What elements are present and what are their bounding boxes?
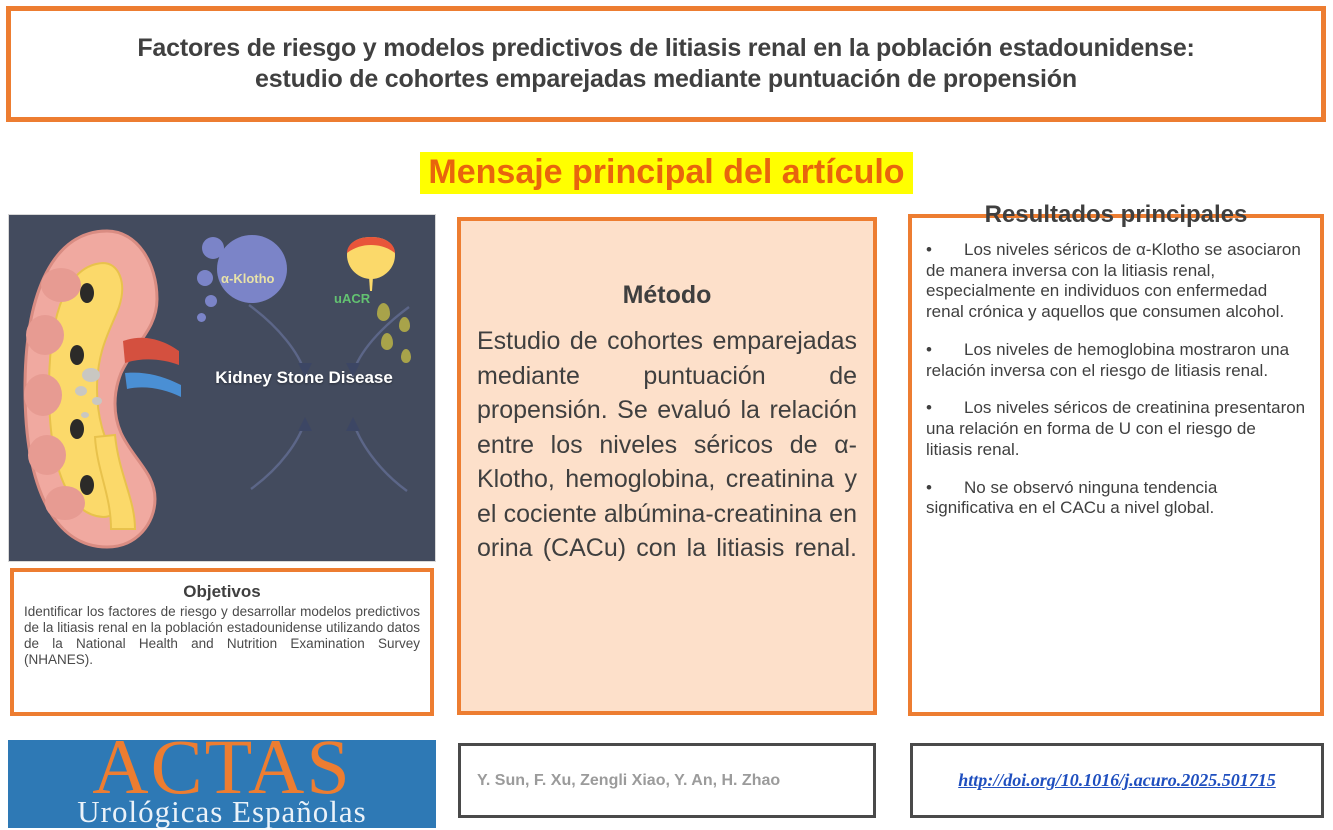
page-title-line-1: Factores de riesgo y modelos predictivos…	[137, 34, 1194, 62]
resultados-bullet-text: Los niveles de hemoglobina mostraron una…	[926, 340, 1289, 380]
page-title-line-2: estudio de cohortes emparejadas mediante…	[255, 65, 1077, 93]
figure-label-klotho: α-Klotho	[221, 271, 274, 286]
resultados-panel: •Los niveles séricos de α-Klotho se asoc…	[908, 214, 1324, 716]
resultados-bullet-item: •Los niveles séricos de α-Klotho se asoc…	[926, 240, 1306, 323]
klotho-bubble-icon	[202, 237, 224, 259]
metodo-panel: Método Estudio de cohortes emparejadas m…	[457, 217, 877, 715]
klotho-bubble-icon	[197, 270, 213, 286]
arrow-klotho-to-center-icon	[239, 301, 419, 381]
kidney-cross-section-icon	[15, 223, 190, 555]
arrow-hemoglobin-to-center-icon	[239, 413, 419, 493]
metodo-heading: Método	[477, 281, 857, 310]
actas-journal-logo: ACTAS Urológicas Españolas	[8, 740, 436, 828]
poster-title-box: Factores de riesgo y modelos predictivos…	[6, 6, 1326, 122]
logo-subtitle-text: Urológicas Españolas	[77, 796, 366, 827]
resultados-bullet-item: •Los niveles de hemoglobina mostraron un…	[926, 340, 1306, 381]
klotho-blob-icon	[217, 235, 287, 303]
resultados-bullet-item: •Los niveles séricos de creatinina prese…	[926, 398, 1306, 460]
resultados-bullet-item: •No se observó ninguna tendencia signifi…	[926, 478, 1306, 519]
objetivos-body: Identificar los factores de riesgo y des…	[24, 604, 420, 668]
doi-box: http://doi.org/10.1016/j.acuro.2025.5017…	[910, 743, 1324, 818]
metodo-body: Estudio de cohortes emparejadas mediante…	[477, 324, 857, 600]
bullet-glyph: •	[926, 340, 964, 361]
klotho-bubble-icon	[197, 313, 206, 322]
authors-list: Y. Sun, F. Xu, Zengli Xiao, Y. An, H. Zh…	[477, 772, 780, 790]
resultados-bullet-text: Los niveles séricos de creatinina presen…	[926, 398, 1305, 458]
bladder-icon	[339, 233, 403, 297]
authors-box: Y. Sun, F. Xu, Zengli Xiao, Y. An, H. Zh…	[458, 743, 876, 818]
main-message-label: Mensaje principal del artículo	[420, 152, 912, 193]
main-message-banner: Mensaje principal del artículo	[0, 150, 1333, 196]
objetivos-panel: Objetivos Identificar los factores de ri…	[10, 568, 434, 716]
doi-link[interactable]: http://doi.org/10.1016/j.acuro.2025.5017…	[958, 770, 1276, 791]
bullet-glyph: •	[926, 398, 964, 419]
objetivos-heading: Objetivos	[24, 582, 420, 602]
page-title: Factores de riesgo y modelos predictivos…	[123, 33, 1208, 96]
poster-root: Factores de riesgo y modelos predictivos…	[0, 0, 1333, 830]
kidney-diagram-figure: Kidney Stone Disease α-Klotho uACR Hemog…	[8, 214, 436, 562]
klotho-bubble-icon	[205, 295, 217, 307]
resultados-bullet-text: No se observó ninguna tendencia signific…	[926, 478, 1217, 518]
resultados-bullet-text: Los niveles séricos de α-Klotho se asoci…	[926, 240, 1301, 321]
bullet-glyph: •	[926, 240, 964, 261]
bullet-glyph: •	[926, 478, 964, 499]
